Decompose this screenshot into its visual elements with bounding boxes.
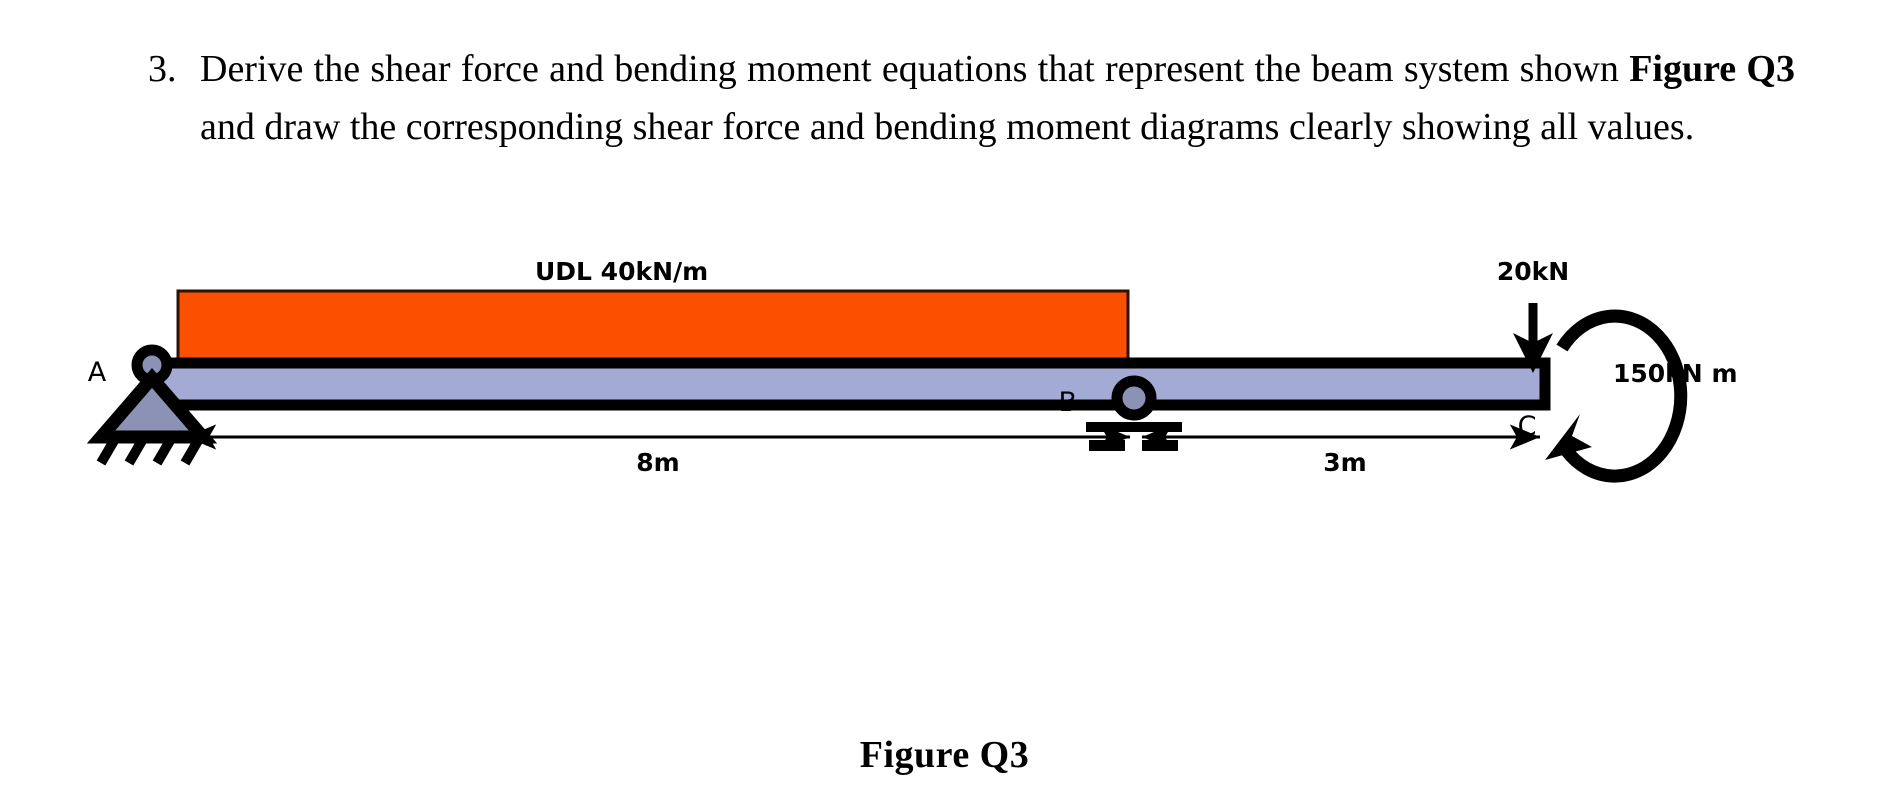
udl-block — [178, 291, 1128, 363]
beam-diagram-svg: UDL 40kN/m A — [0, 255, 1889, 615]
roller-ground-line-b — [1086, 422, 1182, 432]
dimension-8m-label: 8m — [636, 448, 679, 477]
question-text-part-1: Derive the shear force and bending momen… — [200, 48, 1629, 90]
roller-circle-b — [1117, 381, 1151, 415]
dimension-3m-label: 3m — [1323, 448, 1366, 477]
moment-arrowhead — [1545, 414, 1592, 460]
point-load-label: 20kN — [1497, 257, 1569, 286]
question-number: 3. — [148, 40, 200, 98]
support-b-label: B — [1058, 387, 1077, 418]
beam-diagram: UDL 40kN/m A — [0, 255, 1889, 615]
dimension-8m: 8m — [186, 437, 1130, 477]
udl-label: UDL 40kN/m — [535, 257, 708, 286]
beam-body — [148, 363, 1545, 405]
support-a-label: A — [88, 357, 107, 388]
applied-moment-arc — [1545, 316, 1681, 476]
roller-ground-dash-left-b — [1089, 440, 1125, 451]
roller-ground-dash-right-b — [1142, 440, 1178, 451]
question-block: 3. Derive the shear force and bending mo… — [148, 40, 1798, 156]
question-figure-reference: Figure Q3 — [1629, 48, 1795, 90]
dimension-3m: 3m — [1142, 437, 1540, 477]
figure-caption: Figure Q3 — [0, 733, 1889, 777]
question-text: Derive the shear force and bending momen… — [200, 40, 1795, 156]
question-text-part-2: and draw the corresponding shear force a… — [200, 106, 1694, 148]
moment-label: 150kN m — [1613, 359, 1738, 388]
